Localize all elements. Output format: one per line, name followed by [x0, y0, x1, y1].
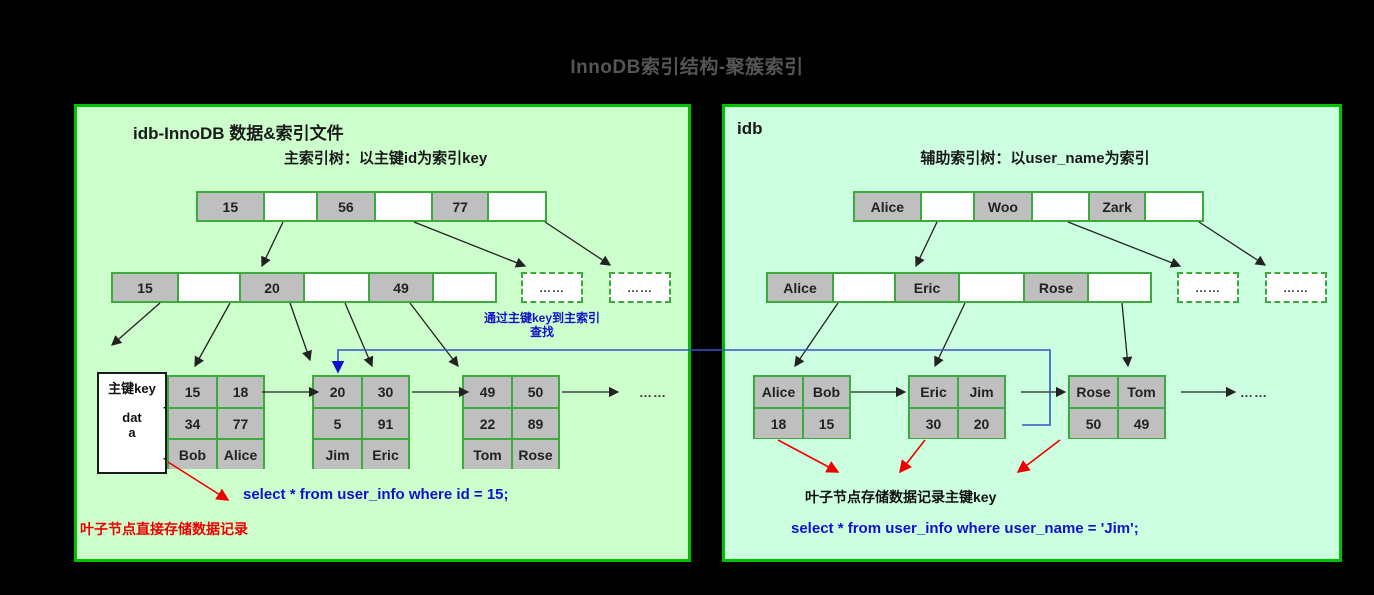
leaf-cell: 18 [755, 409, 802, 438]
leaf-cell: Rose [1070, 377, 1117, 407]
node-cell-pointer [922, 193, 975, 220]
right-leaf-node[interactable]: Rose Tom 50 49 [1068, 375, 1166, 439]
right-panel-secondary-index: idb 辅助索引树：以user_name为索引 Alice Woo Zark A… [722, 104, 1342, 562]
leaf-row: 5 91 [314, 407, 408, 438]
left-sql-note: select * from user_info where id = 15; [243, 486, 509, 503]
node-cell-pointer [1146, 193, 1202, 220]
left-leaf-tail-ellipsis: …… [639, 385, 667, 400]
node-cell-pointer [434, 274, 495, 301]
leaf-cell: Tom [464, 440, 511, 469]
right-level2-ellipsis-box: …… [1177, 272, 1239, 303]
node-cell-pointer [265, 193, 318, 220]
leaf-cell: 49 [1117, 409, 1164, 438]
node-cell-key: Alice [855, 193, 922, 220]
leaf-row: Jim Eric [314, 438, 408, 469]
leaf-cell: 18 [216, 377, 263, 407]
left-panel-header: idb-InnoDB 数据&索引文件 [133, 119, 344, 144]
leaf-cell: Bob [802, 377, 849, 407]
leaf-row: Eric Jim [910, 377, 1004, 407]
node-cell-key: Alice [768, 274, 834, 301]
leaf-row: 15 18 [169, 377, 263, 407]
leaf-row: Bob Alice [169, 438, 263, 469]
diagram-canvas: InnoDB索引结构-聚簇索引 idb-InnoDB 数据&索引文件 主索引树：… [0, 0, 1374, 595]
node-cell-key: 77 [433, 193, 490, 220]
leaf-row: 30 20 [910, 407, 1004, 438]
right-root-node[interactable]: Alice Woo Zark [853, 191, 1204, 222]
leaf-row: Tom Rose [464, 438, 558, 469]
left-leaf-legend-box: 主键key data [97, 372, 167, 474]
node-cell-pointer [1033, 193, 1090, 220]
leaf-cell: 89 [511, 409, 558, 438]
leaf-cell: 22 [464, 409, 511, 438]
left-leaf-node[interactable]: 15 18 34 77 Bob Alice [167, 375, 265, 469]
leaf-row: 22 89 [464, 407, 558, 438]
leaf-row: 34 77 [169, 407, 263, 438]
node-cell-key: 15 [198, 193, 265, 220]
leaf-cell: 15 [169, 377, 216, 407]
left-tree-title: 主索引树：以主键id为索引key [77, 147, 694, 168]
node-cell-key: 15 [113, 274, 179, 301]
node-cell-key: 49 [370, 274, 434, 301]
leaf-row: 50 49 [1070, 407, 1164, 438]
right-leaf-node[interactable]: Eric Jim 30 20 [908, 375, 1006, 439]
leaf-data-label: data [122, 411, 142, 441]
leaf-cell: Jim [314, 440, 361, 469]
node-cell-pointer [305, 274, 370, 301]
left-leaf-node[interactable]: 20 30 5 91 Jim Eric [312, 375, 410, 469]
leaf-cell: 50 [511, 377, 558, 407]
leaf-cell: Tom [1117, 377, 1164, 407]
left-root-node[interactable]: 15 56 77 [196, 191, 547, 222]
leaf-cell: Rose [511, 440, 558, 469]
leaf-cell: 77 [216, 409, 263, 438]
right-sql-note: select * from user_info where user_name … [791, 520, 1139, 537]
leaf-row: 18 15 [755, 407, 849, 438]
leaf-key-label: 主键key [108, 378, 156, 397]
leaf-cell: 91 [361, 409, 408, 438]
leaf-cell: Alice [216, 440, 263, 469]
page-title: InnoDB索引结构-聚簇索引 [0, 52, 1374, 79]
node-cell-key: Eric [896, 274, 960, 301]
leaf-cell: 30 [910, 409, 957, 438]
node-cell-key: Rose [1025, 274, 1089, 301]
node-cell-key: 56 [318, 193, 376, 220]
leaf-cell: 30 [361, 377, 408, 407]
left-level2-node[interactable]: 15 20 49 [111, 272, 497, 303]
right-level2-node[interactable]: Alice Eric Rose [766, 272, 1152, 303]
cross-index-lookup-note: 通过主键key到主索引查找 [482, 311, 602, 340]
right-leaf-node[interactable]: Alice Bob 18 15 [753, 375, 851, 439]
right-panel-header: idb [737, 119, 763, 139]
leaf-cell: 20 [957, 409, 1004, 438]
leaf-row: 20 30 [314, 377, 408, 407]
leaf-row: Alice Bob [755, 377, 849, 407]
node-cell-pointer [489, 193, 545, 220]
leaf-cell: Bob [169, 440, 216, 469]
leaf-row: 49 50 [464, 377, 558, 407]
leaf-cell: Eric [910, 377, 957, 407]
leaf-cell: 20 [314, 377, 361, 407]
right-leaf-tail-ellipsis: …… [1240, 385, 1268, 400]
left-level2-ellipsis-box: …… [609, 272, 671, 303]
leaf-cell: Alice [755, 377, 802, 407]
right-tree-title: 辅助索引树：以user_name为索引 [725, 147, 1345, 168]
leaf-cell: 49 [464, 377, 511, 407]
leaf-cell: 34 [169, 409, 216, 438]
node-cell-pointer [1089, 274, 1150, 301]
leaf-cell: 5 [314, 409, 361, 438]
node-cell-pointer [960, 274, 1025, 301]
node-cell-pointer [834, 274, 896, 301]
right-black-note: 叶子节点存储数据记录主键key [805, 487, 996, 507]
node-cell-pointer [376, 193, 433, 220]
right-level2-ellipsis-box: …… [1265, 272, 1327, 303]
node-cell-pointer [179, 274, 241, 301]
leaf-cell: 15 [802, 409, 849, 438]
leaf-cell: Eric [361, 440, 408, 469]
left-leaf-node[interactable]: 49 50 22 89 Tom Rose [462, 375, 560, 469]
node-cell-key: Zark [1090, 193, 1147, 220]
leaf-cell: 50 [1070, 409, 1117, 438]
left-red-note: 叶子节点直接存储数据记录 [80, 519, 248, 539]
node-cell-key: Woo [975, 193, 1033, 220]
left-level2-ellipsis-box: …… [521, 272, 583, 303]
leaf-cell: Jim [957, 377, 1004, 407]
leaf-row: Rose Tom [1070, 377, 1164, 407]
node-cell-key: 20 [241, 274, 305, 301]
